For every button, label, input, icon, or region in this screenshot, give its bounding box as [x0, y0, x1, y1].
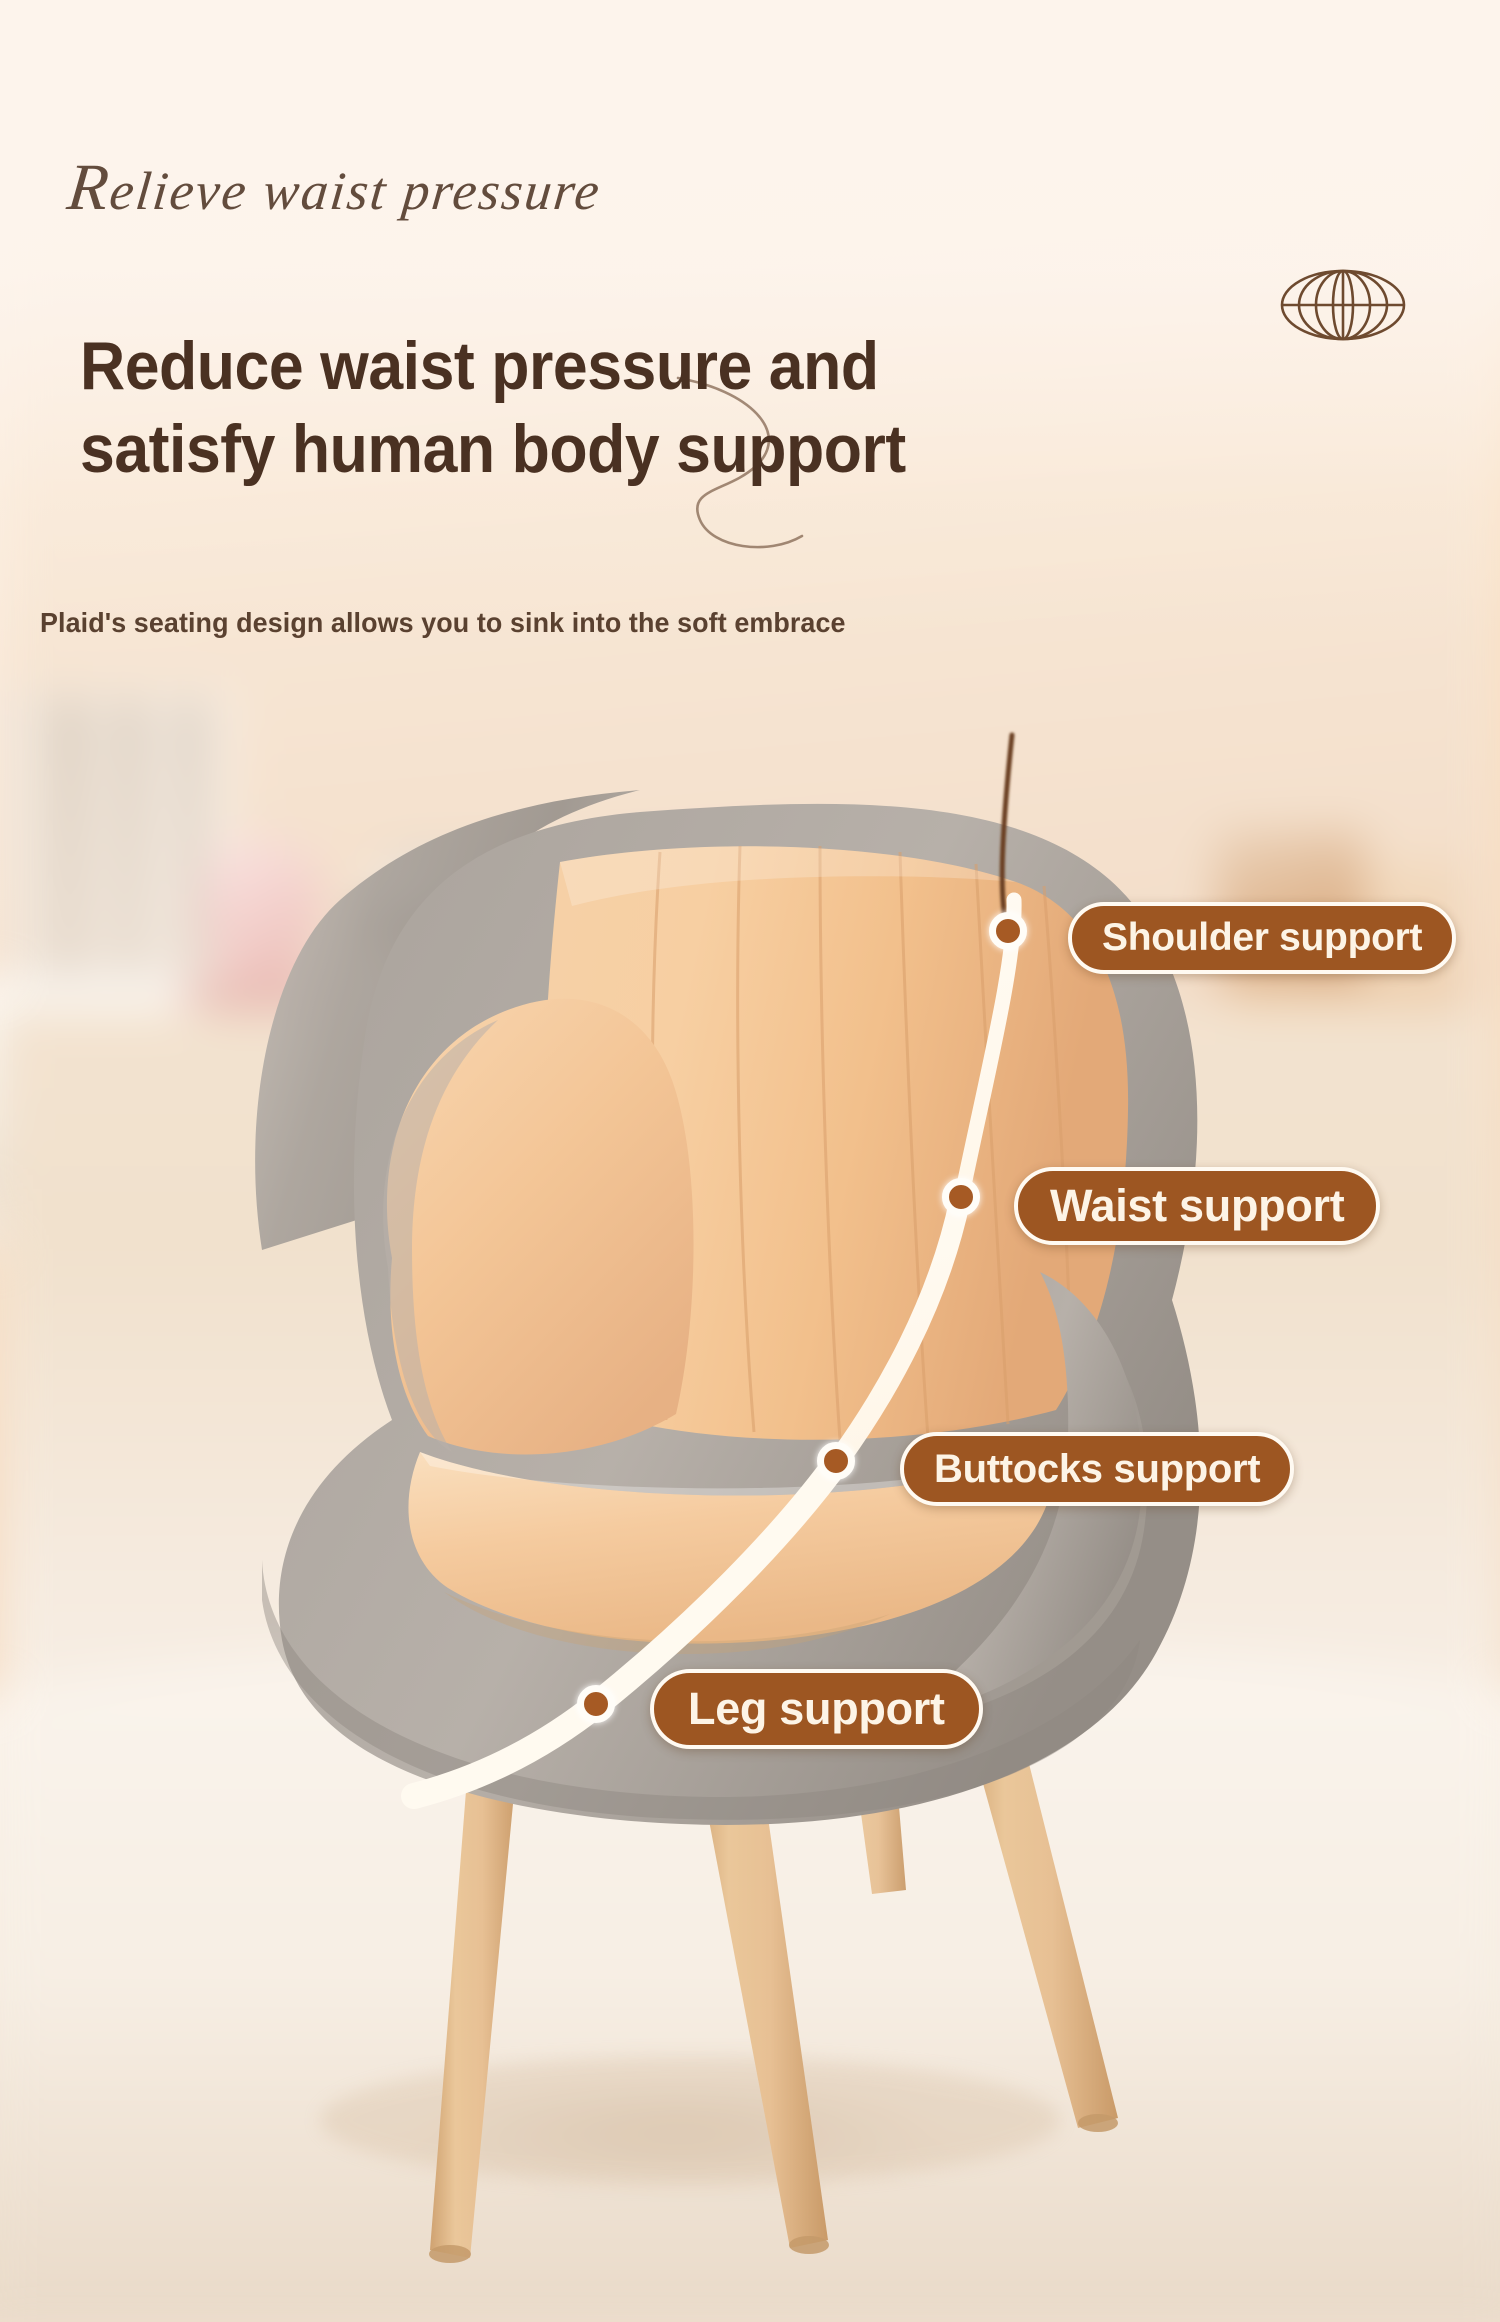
callout-dot-waist[interactable] [942, 1178, 980, 1216]
callout-dot-shoulder[interactable] [989, 912, 1027, 950]
callout-pill-waist[interactable]: Waist support [1014, 1167, 1380, 1245]
product-marketing-poster: Relieve waist pressure Reduce waist pres… [0, 0, 1500, 2322]
page-title: Reduce waist pressure and satisfy human … [80, 325, 906, 491]
callout-pill-shoulder[interactable]: Shoulder support [1068, 902, 1456, 974]
headline-line-2: satisfy human body support [80, 411, 906, 487]
callout-dot-leg[interactable] [577, 1685, 615, 1723]
globe-icon [1268, 255, 1418, 355]
callout-pill-leg[interactable]: Leg support [650, 1669, 983, 1749]
script-accent-text: Relieve waist pressure [64, 150, 605, 226]
headline-line-1: Reduce waist pressure and [80, 328, 879, 404]
script-rest: elieve waist pressure [107, 161, 604, 221]
page-subtitle: Plaid's seating design allows you to sin… [40, 607, 846, 639]
callout-dot-buttocks[interactable] [817, 1442, 855, 1480]
callout-pill-buttocks[interactable]: Buttocks support [900, 1432, 1294, 1506]
